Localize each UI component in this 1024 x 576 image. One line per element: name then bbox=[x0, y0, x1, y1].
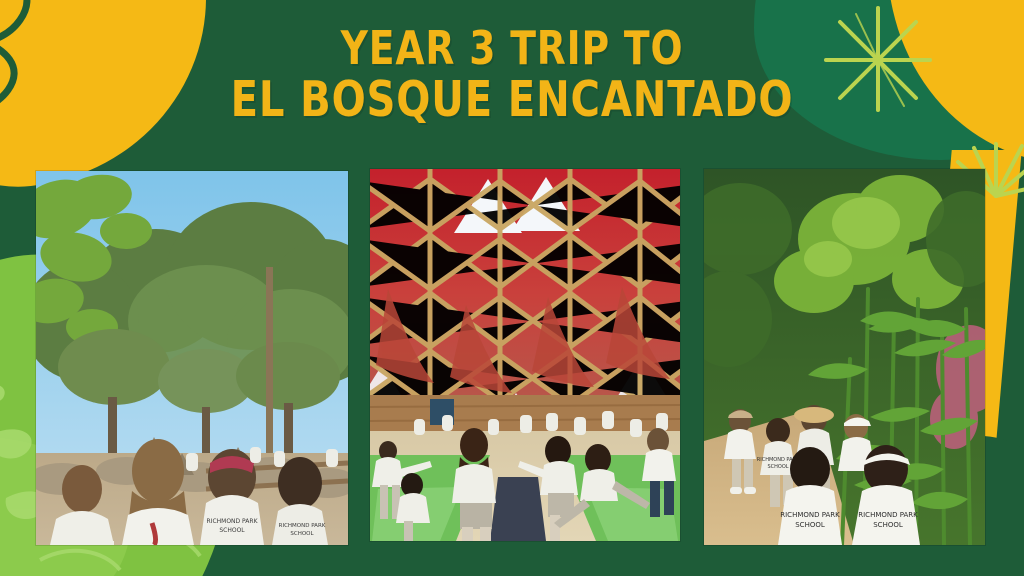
slide-title: Year 3 Trip To El Bosque Encantado bbox=[92, 22, 932, 126]
svg-text:RICHMOND PARK: RICHMOND PARK bbox=[207, 518, 259, 525]
svg-text:SCHOOL: SCHOOL bbox=[219, 527, 245, 534]
svg-text:SCHOOL: SCHOOL bbox=[290, 531, 314, 537]
photo-maize-path: RICHMOND PARK SCHOOL bbox=[704, 169, 985, 545]
photo-geodesic-dome-image bbox=[370, 169, 680, 541]
photo-garden-trees-image: RICHMOND PARK SCHOOL RICHMOND PARK SCHOO… bbox=[36, 171, 348, 545]
svg-text:SCHOOL: SCHOOL bbox=[873, 521, 903, 529]
title-line-1: Year 3 Trip To bbox=[341, 21, 684, 75]
photo-maize-path-image: RICHMOND PARK SCHOOL bbox=[704, 169, 985, 545]
photo-geodesic-dome bbox=[370, 169, 680, 541]
svg-text:RICHMOND PARK: RICHMOND PARK bbox=[279, 523, 326, 529]
svg-text:RICHMOND PARK: RICHMOND PARK bbox=[858, 511, 918, 519]
svg-text:SCHOOL: SCHOOL bbox=[767, 464, 788, 470]
svg-text:SCHOOL: SCHOOL bbox=[795, 521, 825, 529]
presentation-slide: Year 3 Trip To El Bosque Encantado bbox=[0, 0, 1024, 576]
photo-garden-trees: RICHMOND PARK SCHOOL RICHMOND PARK SCHOO… bbox=[36, 171, 348, 545]
svg-text:RICHMOND PARK: RICHMOND PARK bbox=[780, 511, 840, 519]
title-line-2: El Bosque Encantado bbox=[92, 74, 932, 126]
